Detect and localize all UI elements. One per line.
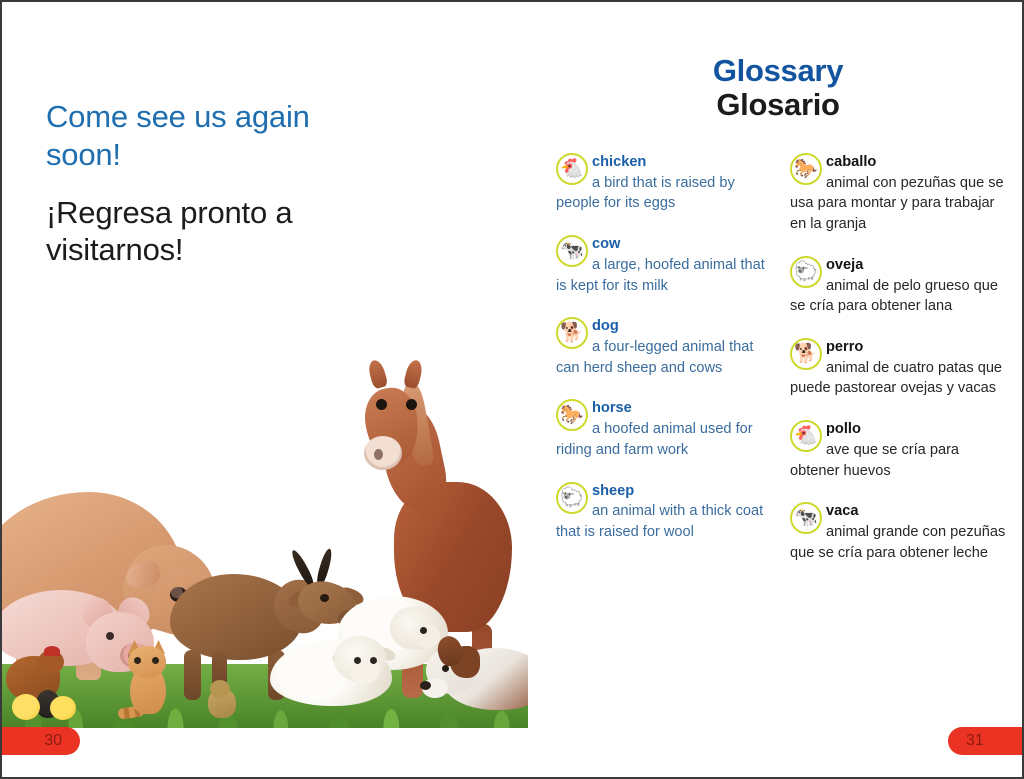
glossary-columns: 🐔 chickena bird that is raised by people… — [530, 152, 1024, 584]
heading-spanish: ¡Regresa pronto a visitarnos! — [46, 194, 376, 270]
book-page-spread: Come see us again soon! ¡Regresa pronto … — [0, 0, 1024, 779]
entry-text: cowa large, hoofed animal that is kept f… — [556, 236, 765, 293]
definition: a hoofed animal used for riding and farm… — [556, 421, 753, 458]
dog-nose — [420, 681, 431, 690]
definition: animal de pelo grueso que se cría para o… — [790, 278, 998, 315]
headword: oveja — [826, 257, 863, 273]
duckling-head — [210, 680, 230, 698]
lamb-eye — [354, 657, 361, 664]
definition: a large, hoofed animal that is kept for … — [556, 257, 765, 294]
cat-eye — [152, 657, 159, 664]
pig-eye — [106, 632, 114, 640]
sheep-eye — [420, 627, 427, 634]
definition: an animal with a thick coat that is rais… — [556, 503, 763, 540]
glossary-entry-pollo: 🐔 polloave que se cría para obtener huev… — [790, 419, 1010, 481]
left-page-headings: Come see us again soon! ¡Regresa pronto … — [46, 98, 376, 269]
entry-text: vacaanimal grande con pezuñas que se crí… — [790, 503, 1005, 560]
headword: cow — [592, 236, 620, 252]
sheep-photo-icon: 🐑 — [556, 482, 588, 514]
left-page: Come see us again soon! ¡Regresa pronto … — [2, 2, 530, 777]
entry-text: sheepan animal with a thick coat that is… — [556, 483, 763, 540]
dog-photo-icon: 🐕 — [556, 317, 588, 349]
vaca-photo-icon: 🐄 — [790, 502, 822, 534]
pollo-photo-icon: 🐔 — [790, 420, 822, 452]
headword: perro — [826, 339, 863, 355]
glossary-entry-cow: 🐄 cowa large, hoofed animal that is kept… — [556, 234, 766, 296]
glossary-entry-dog: 🐕 doga four-legged animal that can herd … — [556, 316, 766, 378]
page-number-right: 31 — [948, 727, 1024, 755]
caballo-photo-icon: 🐎 — [790, 153, 822, 185]
glossary-entry-oveja: 🐑 ovejaanimal de pelo grueso que se cría… — [790, 255, 1010, 317]
chick-illustration — [12, 694, 40, 720]
glossary-entry-sheep: 🐑 sheepan animal with a thick coat that … — [556, 481, 766, 543]
horse-nostril — [374, 449, 383, 460]
horse-ear — [403, 359, 424, 390]
entry-text: perroanimal de cuatro patas que puede pa… — [790, 339, 1002, 396]
page-number-left-label: 30 — [44, 732, 62, 750]
glossary-column-english: 🐔 chickena bird that is raised by people… — [530, 152, 778, 584]
heading-english: Come see us again soon! — [46, 98, 376, 174]
glossary-entry-chicken: 🐔 chickena bird that is raised by people… — [556, 152, 766, 214]
glossary-entry-perro: 🐕 perroanimal de cuatro patas que puede … — [790, 337, 1010, 399]
perro-photo-icon: 🐕 — [790, 338, 822, 370]
glossary-entry-vaca: 🐄 vacaanimal grande con pezuñas que se c… — [790, 501, 1010, 563]
glossary-entry-horse: 🐎 horsea hoofed animal used for riding a… — [556, 398, 766, 460]
horse-eye — [406, 399, 417, 410]
oveja-photo-icon: 🐑 — [790, 256, 822, 288]
glossary-title-spanish: Glosario — [530, 88, 1024, 122]
headword: pollo — [826, 421, 861, 437]
goat-leg — [184, 650, 201, 700]
headword: caballo — [826, 154, 876, 170]
farm-animals-photo — [2, 333, 528, 728]
headword: horse — [592, 400, 632, 416]
horse-photo-icon: 🐎 — [556, 399, 588, 431]
glossary-title: Glossary Glosario — [530, 2, 1024, 122]
cat-eye — [134, 657, 141, 664]
page-number-right-label: 31 — [966, 732, 984, 750]
hen-comb — [44, 646, 60, 656]
headword: dog — [592, 318, 619, 334]
headword: vaca — [826, 503, 858, 519]
glossary-entry-caballo: 🐎 caballoanimal con pezuñas que se usa p… — [790, 152, 1010, 235]
horse-ear — [366, 358, 388, 389]
glossary-title-english: Glossary — [530, 54, 1024, 88]
page-number-left: 30 — [2, 727, 80, 755]
cow-photo-icon: 🐄 — [556, 235, 588, 267]
entry-text: ovejaanimal de pelo grueso que se cría p… — [790, 257, 998, 314]
definition: animal grande con pezuñas que se cría pa… — [790, 524, 1005, 561]
headword: chicken — [592, 154, 646, 170]
sheep-face — [414, 624, 440, 648]
horse-muzzle — [364, 436, 402, 470]
definition: a four-legged animal that can herd sheep… — [556, 339, 753, 376]
goat-eye — [320, 594, 329, 602]
dog-eye — [442, 665, 449, 672]
right-page: Glossary Glosario 🐔 chickena bird that i… — [530, 2, 1024, 777]
headword: sheep — [592, 483, 634, 499]
glossary-column-spanish: 🐎 caballoanimal con pezuñas que se usa p… — [778, 152, 1024, 584]
entry-text: caballoanimal con pezuñas que se usa par… — [790, 154, 1004, 232]
definition: animal con pezuñas que se usa para monta… — [790, 175, 1004, 232]
chicken-photo-icon: 🐔 — [556, 153, 588, 185]
lamb-eye — [370, 657, 377, 664]
definition: animal de cuatro patas que puede pastore… — [790, 360, 1002, 397]
chick-illustration — [50, 696, 76, 720]
horse-eye — [376, 399, 387, 410]
